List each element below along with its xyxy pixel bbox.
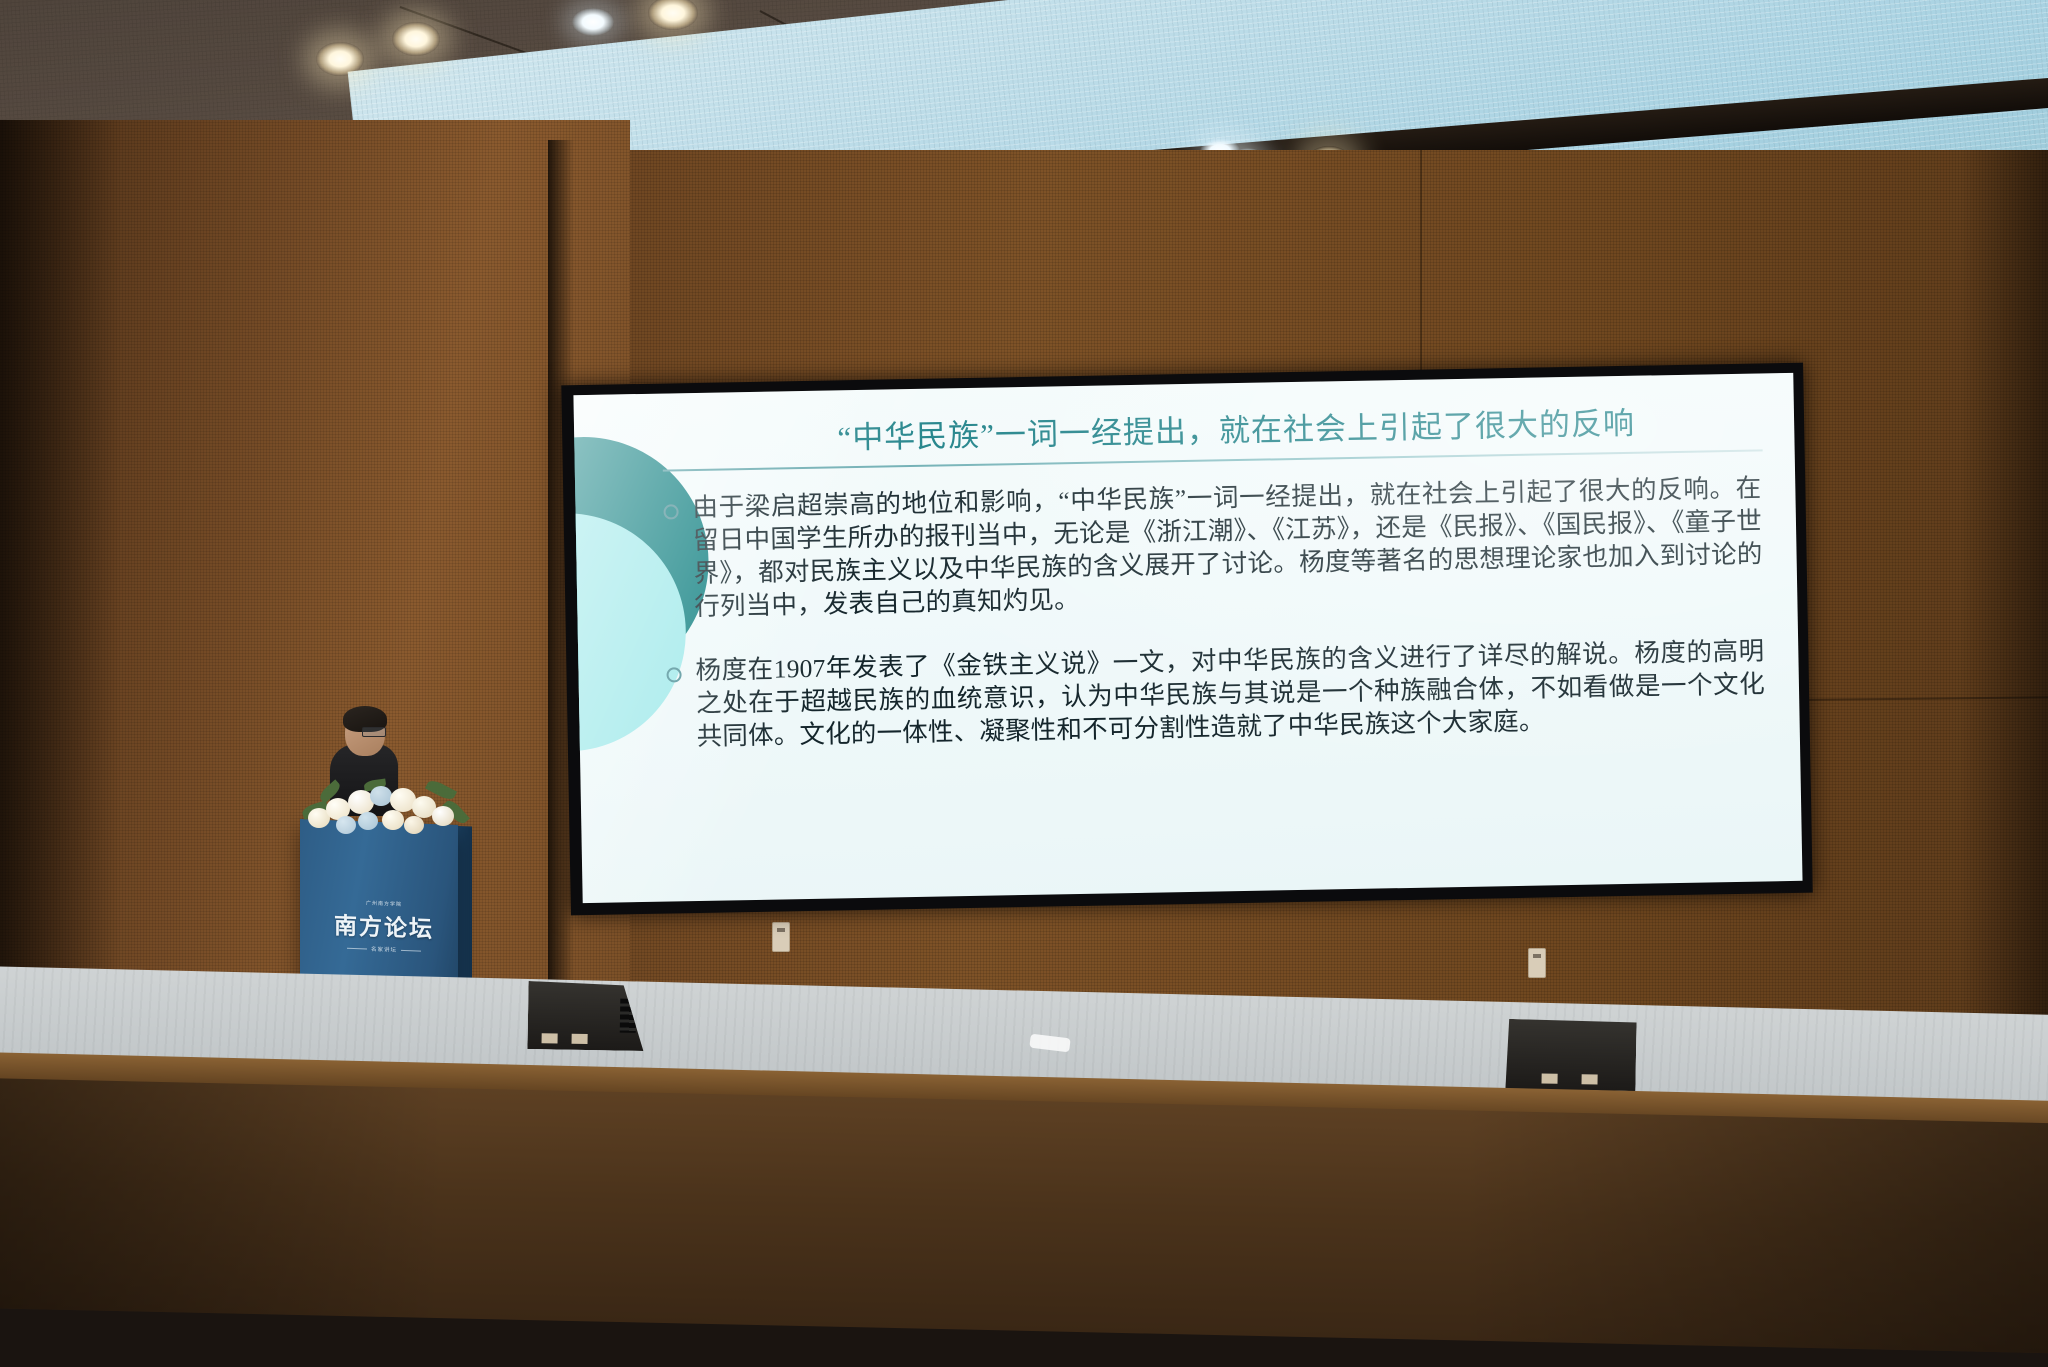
slide-body: 由于梁启超崇高的地位和影响，“中华民族”一词一经提出，就在社会上引起了很大的反响…: [663, 471, 1766, 783]
lectern-logo-title: 南方论坛: [334, 906, 434, 944]
lectern-logo: 广州南方学院 南方论坛 名家讲坛: [334, 898, 434, 955]
slide-bullet-text: 杨度在1907年发表了《金铁主义说》一文，对中华民族的含义进行了详尽的解说。杨度…: [695, 634, 1766, 753]
ceiling-downlight: [316, 42, 364, 76]
ceiling-downlight: [392, 22, 440, 56]
speaker-label-tape: [542, 1033, 558, 1043]
audience-foreground: 李 建 色 自: [0, 1218, 2048, 1367]
ceiling-downlight: [572, 8, 614, 36]
slide-bullet-item: 杨度在1907年发表了《金铁主义说》一文，对中华民族的含义进行了详尽的解说。杨度…: [666, 634, 1766, 754]
auditorium-presentation-photo: “中华民族”一词一经提出，就在社会上引起了很大的反响 由于梁启超崇高的地位和影响…: [0, 0, 2048, 1367]
bullet-circle-icon: [663, 504, 678, 519]
slide-surface: “中华民族”一词一经提出，就在社会上引起了很大的反响 由于梁启超崇高的地位和影响…: [573, 373, 1802, 903]
lectern-logo-subtitle-bottom: 名家讲坛: [334, 943, 434, 955]
lectern-flower-arrangement: [300, 778, 470, 840]
flower-blossom: [336, 816, 356, 834]
speaker-label-tape: [1581, 1074, 1597, 1084]
wall-power-outlet: [772, 922, 790, 952]
flower-blossom: [404, 816, 424, 834]
projection-screen: “中华民族”一词一经提出，就在社会上引起了很大的反响 由于梁启超崇高的地位和影响…: [561, 363, 1813, 916]
bullet-circle-icon: [666, 667, 681, 682]
speaker-person-glasses: [362, 727, 386, 737]
speaker-label-tape: [572, 1034, 588, 1044]
slide-bullet-text: 由于梁启超崇高的地位和影响，“中华民族”一词一经提出，就在社会上引起了很大的反响…: [692, 471, 1763, 623]
stage-monitor-speaker-right: [1505, 1019, 1636, 1091]
speaker-label-tape: [1541, 1073, 1557, 1083]
slide-bullet-item: 由于梁启超崇高的地位和影响，“中华民族”一词一经提出，就在社会上引起了很大的反响…: [663, 471, 1763, 624]
flower-blossom: [370, 786, 392, 806]
slide-title: “中华民族”一词一经提出，就在社会上引起了很大的反响: [716, 396, 1757, 460]
wall-right-shadow: [1960, 150, 2048, 1160]
wall-power-outlet: [1528, 948, 1546, 978]
flower-blossom: [382, 810, 404, 830]
flower-blossom: [358, 812, 378, 830]
flower-blossom: [432, 806, 454, 826]
